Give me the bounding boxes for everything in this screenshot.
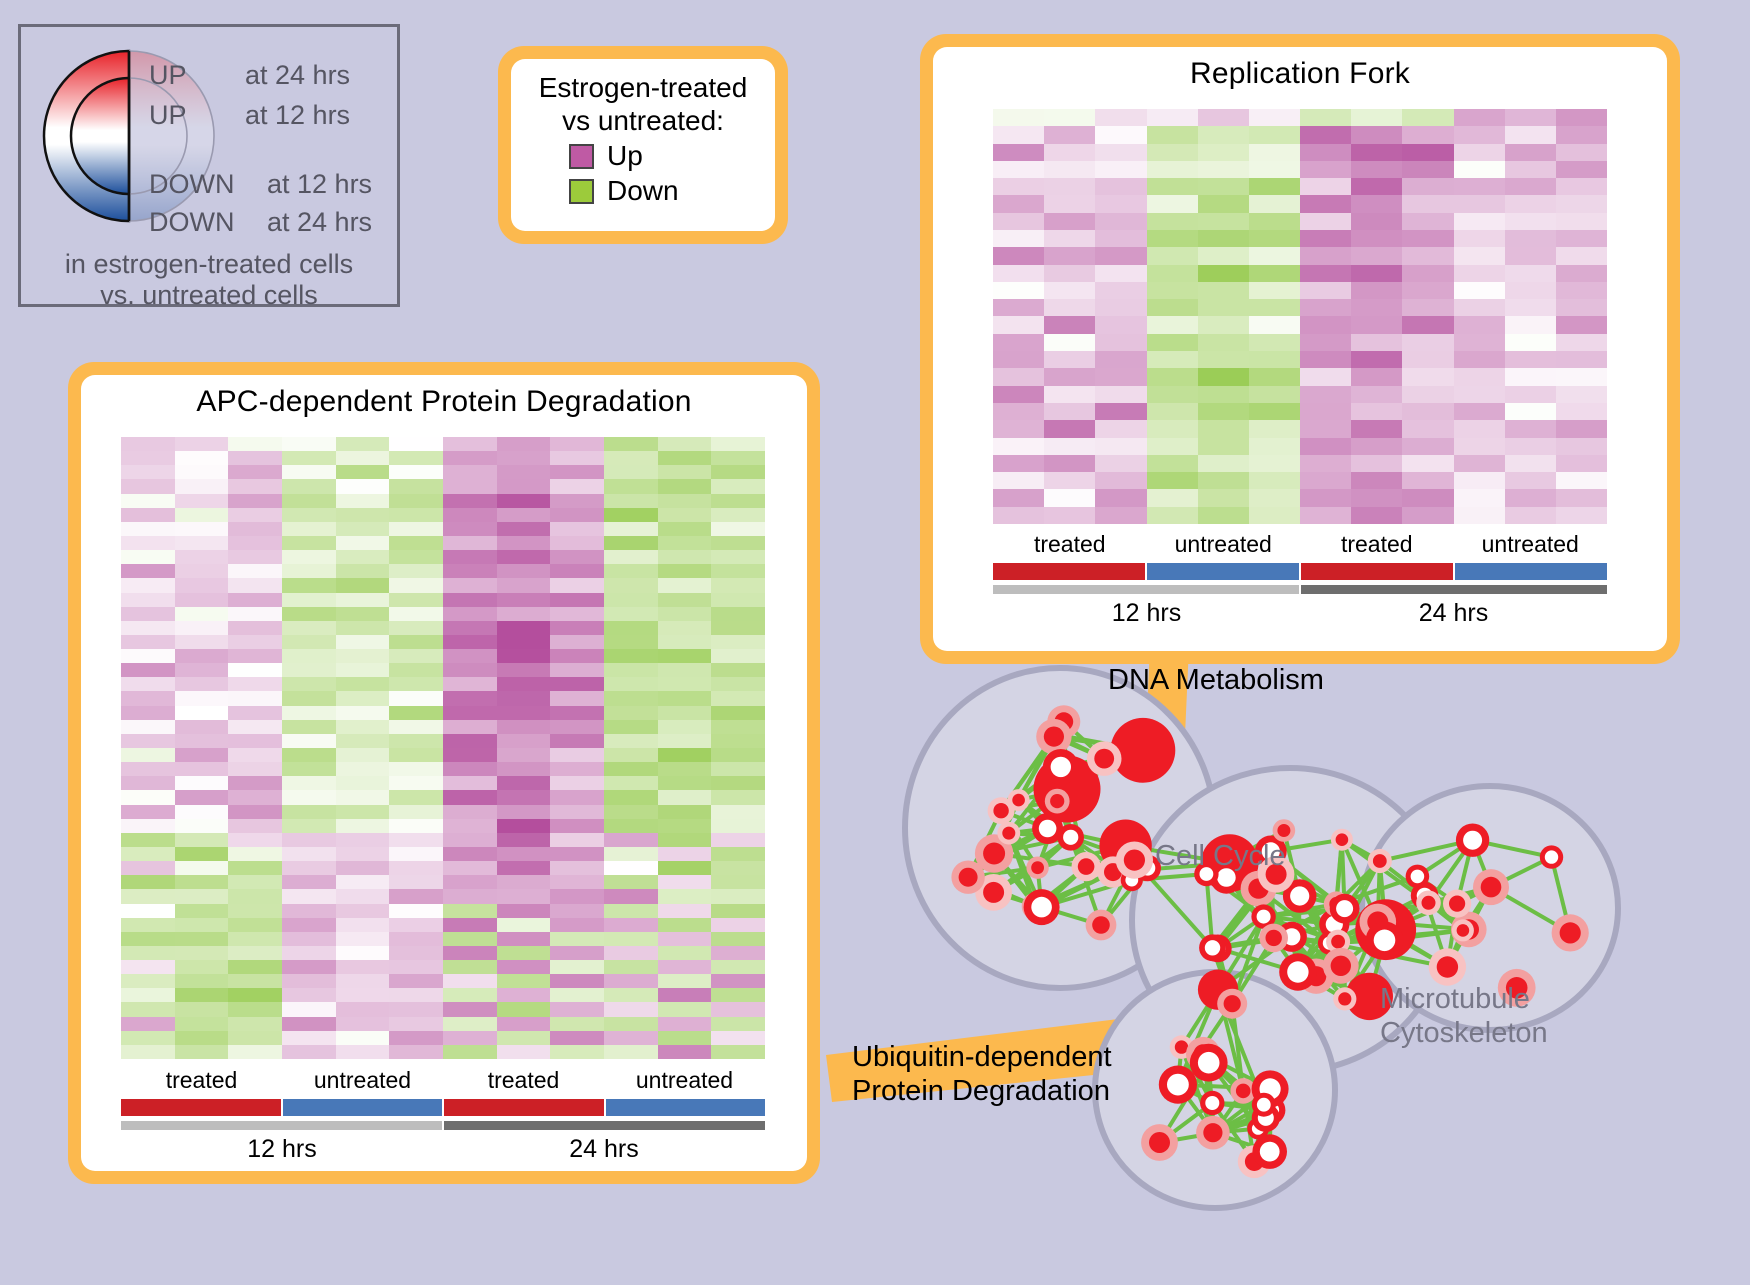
heatmap-cell bbox=[497, 875, 551, 889]
heatmap-cell bbox=[282, 508, 336, 522]
heatmap-cell bbox=[550, 550, 604, 564]
heatmap-cell bbox=[658, 1017, 712, 1031]
heatmap-cell bbox=[658, 918, 712, 932]
heatmap-cell bbox=[1454, 368, 1505, 385]
heatmap-cell bbox=[1402, 109, 1453, 126]
heatmap-cell bbox=[1505, 403, 1556, 420]
heatmap-cell bbox=[1402, 299, 1453, 316]
heatmap-cell bbox=[1402, 455, 1453, 472]
heatmap-cell bbox=[550, 988, 604, 1002]
heatmap-cell bbox=[228, 805, 282, 819]
heatmap-cell bbox=[658, 479, 712, 493]
heatmap-cell bbox=[228, 988, 282, 1002]
heatmap-cell bbox=[443, 706, 497, 720]
network-node[interactable] bbox=[1031, 861, 1044, 874]
heatmap-cell bbox=[1402, 489, 1453, 506]
heatmap-cell bbox=[1095, 386, 1146, 403]
heatmap-cell bbox=[389, 904, 443, 918]
heatmap-cell bbox=[658, 593, 712, 607]
network-node[interactable] bbox=[1331, 935, 1345, 949]
replication-fork-sample-labels: treateduntreatedtreateduntreated bbox=[993, 531, 1607, 558]
heatmap-cell bbox=[443, 479, 497, 493]
network-node[interactable] bbox=[1050, 794, 1064, 808]
network-node[interactable] bbox=[1205, 1096, 1219, 1110]
heatmap-cell bbox=[389, 663, 443, 677]
heatmap-cell bbox=[121, 677, 175, 691]
heatmap-cell bbox=[711, 960, 765, 974]
heatmap-cell bbox=[658, 833, 712, 847]
heatmap-cell bbox=[1556, 178, 1607, 195]
heatmap-cell bbox=[497, 762, 551, 776]
network-node[interactable] bbox=[993, 803, 1008, 818]
heatmap-cell bbox=[228, 1017, 282, 1031]
heatmap-cell bbox=[604, 720, 658, 734]
heatmap-cell bbox=[497, 635, 551, 649]
heatmap-cell bbox=[336, 748, 390, 762]
heatmap-cell bbox=[658, 847, 712, 861]
heatmap-cell bbox=[282, 451, 336, 465]
heatmap-cell bbox=[336, 988, 390, 1002]
heatmap-cell bbox=[282, 946, 336, 960]
heatmap-cell bbox=[282, 776, 336, 790]
heatmap-cell bbox=[1249, 420, 1300, 437]
heatmap-cell bbox=[443, 819, 497, 833]
heatmap-cell bbox=[497, 691, 551, 705]
heatmap-cell bbox=[175, 762, 229, 776]
heatmap-cell bbox=[1300, 144, 1351, 161]
heatmap-cell bbox=[1249, 109, 1300, 126]
heatmap-cell bbox=[282, 918, 336, 932]
network-node[interactable] bbox=[1336, 833, 1349, 846]
heatmap-cell bbox=[1198, 178, 1249, 195]
network-node[interactable] bbox=[1338, 992, 1351, 1005]
heatmap-cell bbox=[604, 762, 658, 776]
heatmap-cell bbox=[389, 734, 443, 748]
heatmap-cell bbox=[389, 1002, 443, 1016]
heatmap-cell bbox=[604, 1017, 658, 1031]
heatmap-cell bbox=[443, 677, 497, 691]
sample-label: untreated bbox=[282, 1067, 443, 1094]
heatmap-cell bbox=[497, 451, 551, 465]
heatmap-cell bbox=[550, 578, 604, 592]
network-node[interactable] bbox=[1224, 995, 1241, 1012]
heatmap-cell bbox=[228, 1045, 282, 1059]
heatmap-cell bbox=[497, 593, 551, 607]
heatmap-cell bbox=[1147, 299, 1198, 316]
network-node[interactable] bbox=[1287, 961, 1308, 982]
heatmap-cell bbox=[604, 974, 658, 988]
network-node[interactable] bbox=[983, 843, 1005, 865]
heatmap-cell bbox=[1351, 420, 1402, 437]
heatmap-cell bbox=[282, 790, 336, 804]
heatmap-cell bbox=[1095, 161, 1146, 178]
heatmap-cell bbox=[711, 762, 765, 776]
heatmap-cell bbox=[443, 946, 497, 960]
heatmap-cell bbox=[711, 522, 765, 536]
network-node[interactable] bbox=[1167, 1074, 1189, 1096]
heatmap-cell bbox=[1249, 247, 1300, 264]
heatmap-cell bbox=[1505, 507, 1556, 524]
heatmap-cell bbox=[336, 904, 390, 918]
heatmap-cell bbox=[550, 805, 604, 819]
heatmap-cell bbox=[993, 161, 1044, 178]
heatmap-cell bbox=[1351, 334, 1402, 351]
heatmap-cell bbox=[389, 578, 443, 592]
heatmap-cell bbox=[228, 437, 282, 451]
heatmap-cell bbox=[711, 508, 765, 522]
heatmap-cell bbox=[175, 1017, 229, 1031]
heatmap-cell bbox=[121, 522, 175, 536]
heatmap-cell bbox=[443, 904, 497, 918]
heatmap-cell bbox=[121, 1031, 175, 1045]
network-node[interactable] bbox=[1374, 930, 1396, 952]
heatmap-cell bbox=[993, 351, 1044, 368]
heatmap-cell bbox=[550, 790, 604, 804]
heatmap-cell bbox=[1249, 386, 1300, 403]
heatmap-cell bbox=[336, 734, 390, 748]
replication-fork-time-labels: 12 hrs24 hrs bbox=[993, 599, 1607, 628]
heatmap-cell bbox=[711, 904, 765, 918]
heatmap-cell bbox=[1249, 368, 1300, 385]
network-node[interactable] bbox=[1111, 718, 1176, 783]
network-node[interactable] bbox=[959, 868, 978, 887]
heatmap-cell bbox=[228, 720, 282, 734]
heatmap-cell bbox=[711, 564, 765, 578]
heatmap-cell bbox=[1249, 316, 1300, 333]
network-node[interactable] bbox=[1236, 1084, 1251, 1099]
heatmap-cell bbox=[550, 889, 604, 903]
network-node[interactable] bbox=[1205, 940, 1220, 955]
heatmap-cell bbox=[497, 1031, 551, 1045]
heatmap-cell bbox=[336, 819, 390, 833]
heatmap-cell bbox=[1044, 386, 1095, 403]
heatmap-cell bbox=[1044, 489, 1095, 506]
network-node[interactable] bbox=[1094, 749, 1114, 769]
heatmap-cell bbox=[711, 918, 765, 932]
heatmap-cell bbox=[1556, 507, 1607, 524]
heatmap-cell bbox=[497, 748, 551, 762]
heatmap-cell bbox=[1505, 282, 1556, 299]
heatmap-cell bbox=[336, 1031, 390, 1045]
heatmap-cell bbox=[1044, 472, 1095, 489]
heatmap-cell bbox=[389, 465, 443, 479]
heatmap-cell bbox=[443, 508, 497, 522]
network-node[interactable] bbox=[1331, 956, 1351, 976]
heatmap-cell bbox=[604, 550, 658, 564]
key-up-24-time: at 24 hrs bbox=[245, 60, 350, 91]
heatmap-cell bbox=[389, 1017, 443, 1031]
apc-time-bar bbox=[121, 1121, 765, 1130]
heatmap-cell bbox=[711, 635, 765, 649]
treatment-bar-segment bbox=[283, 1099, 443, 1116]
heatmap-cell bbox=[604, 649, 658, 663]
heatmap-cell bbox=[336, 847, 390, 861]
heatmap-cell bbox=[1249, 438, 1300, 455]
network-node[interactable] bbox=[1560, 922, 1581, 943]
heatmap-cell bbox=[1505, 455, 1556, 472]
heatmap-cell bbox=[497, 494, 551, 508]
key-up-12-time: at 12 hrs bbox=[245, 100, 350, 131]
heatmap-cell bbox=[121, 875, 175, 889]
network-node[interactable] bbox=[1260, 1142, 1280, 1162]
cluster-label-microtubule: Microtubule Cytoskeleton bbox=[1380, 982, 1548, 1050]
heatmap-cell bbox=[550, 861, 604, 875]
heatmap-cell bbox=[1351, 109, 1402, 126]
heatmap-cell bbox=[993, 126, 1044, 143]
network-node[interactable] bbox=[1078, 858, 1095, 875]
heatmap-cell bbox=[228, 663, 282, 677]
network-node[interactable] bbox=[1481, 877, 1502, 898]
network-node[interactable] bbox=[1422, 896, 1436, 910]
heatmap-cell bbox=[658, 805, 712, 819]
sample-label: treated bbox=[121, 1067, 282, 1094]
heatmap-cell bbox=[1351, 351, 1402, 368]
heatmap-cell bbox=[121, 988, 175, 1002]
heatmap-cell bbox=[1402, 386, 1453, 403]
network-node[interactable] bbox=[1063, 830, 1078, 845]
network-node[interactable] bbox=[1449, 896, 1465, 912]
network-node[interactable] bbox=[1266, 930, 1282, 946]
heatmap-cell bbox=[1300, 299, 1351, 316]
heatmap-cell bbox=[604, 904, 658, 918]
heatmap-cell bbox=[1556, 472, 1607, 489]
heatmap-cell bbox=[336, 508, 390, 522]
heatmap-cell bbox=[228, 776, 282, 790]
heatmap-cell bbox=[1556, 230, 1607, 247]
heatmap-cell bbox=[175, 621, 229, 635]
heatmap-cell bbox=[993, 420, 1044, 437]
heatmap-cell bbox=[228, 790, 282, 804]
heatmap-cell bbox=[282, 437, 336, 451]
heatmap-cell bbox=[1505, 334, 1556, 351]
heatmap-cell bbox=[497, 861, 551, 875]
replication-fork-time-bar bbox=[993, 585, 1607, 594]
heatmap-cell bbox=[121, 974, 175, 988]
heatmap-cell bbox=[443, 776, 497, 790]
heatmap-cell bbox=[389, 593, 443, 607]
heatmap-cell bbox=[389, 508, 443, 522]
heatmap-cell bbox=[121, 960, 175, 974]
heatmap-cell bbox=[1095, 368, 1146, 385]
heatmap-cell bbox=[497, 479, 551, 493]
network-node[interactable] bbox=[1411, 870, 1425, 884]
network-node[interactable] bbox=[1002, 827, 1015, 840]
network-node[interactable] bbox=[1031, 897, 1052, 918]
heatmap-cell bbox=[1454, 126, 1505, 143]
network-node[interactable] bbox=[1463, 831, 1482, 850]
sample-label: untreated bbox=[1147, 531, 1301, 558]
heatmap-cell bbox=[1402, 507, 1453, 524]
heatmap-cell bbox=[604, 536, 658, 550]
heatmap-cell bbox=[604, 465, 658, 479]
heatmap-cell bbox=[993, 247, 1044, 264]
key-footer-line2: vs. untreated cells bbox=[21, 280, 397, 311]
heatmap-cell bbox=[228, 621, 282, 635]
heatmap-cell bbox=[1300, 403, 1351, 420]
heatmap-cell bbox=[1147, 334, 1198, 351]
heatmap-cell bbox=[604, 875, 658, 889]
heatmap-cell bbox=[1147, 403, 1198, 420]
heatmap-cell bbox=[282, 960, 336, 974]
heatmap-cell bbox=[282, 578, 336, 592]
heatmap-cell bbox=[1249, 455, 1300, 472]
heatmap-cell bbox=[1249, 144, 1300, 161]
heatmap-cell bbox=[1300, 368, 1351, 385]
heatmap-cell bbox=[282, 621, 336, 635]
replication-fork-treatment-bar bbox=[993, 563, 1607, 580]
heatmap-cell bbox=[389, 649, 443, 663]
heatmap-cell bbox=[1300, 109, 1351, 126]
heatmap-cell bbox=[1147, 247, 1198, 264]
heatmap-cell bbox=[550, 974, 604, 988]
heatmap-cell bbox=[1351, 144, 1402, 161]
network-node[interactable] bbox=[1124, 850, 1145, 871]
time-label: 24 hrs bbox=[443, 1135, 765, 1164]
network-node[interactable] bbox=[1457, 924, 1470, 937]
heatmap-cell bbox=[1147, 316, 1198, 333]
heatmap-cell bbox=[1249, 282, 1300, 299]
heatmap-cell bbox=[1505, 213, 1556, 230]
heatmap-cell bbox=[1505, 109, 1556, 126]
treatment-bar-segment bbox=[993, 563, 1145, 580]
network-node[interactable] bbox=[1051, 757, 1071, 777]
heatmap-cell bbox=[658, 437, 712, 451]
heatmap-cell bbox=[711, 578, 765, 592]
heatmap-cell bbox=[1505, 247, 1556, 264]
heatmap-cell bbox=[1351, 282, 1402, 299]
network-node[interactable] bbox=[1437, 956, 1458, 977]
heatmap-cell bbox=[1300, 178, 1351, 195]
heatmap-cell bbox=[658, 1031, 712, 1045]
color-key-box: UP at 24 hrs UP at 12 hrs DOWN at 12 hrs… bbox=[18, 24, 400, 307]
heatmap-cell bbox=[658, 875, 712, 889]
heatmap-cell bbox=[1095, 420, 1146, 437]
heatmap-cell bbox=[550, 691, 604, 705]
network-node[interactable] bbox=[1203, 1123, 1222, 1142]
heatmap-cell bbox=[228, 819, 282, 833]
network-node[interactable] bbox=[1257, 910, 1271, 924]
network-node[interactable] bbox=[1277, 824, 1290, 837]
heatmap-cell bbox=[282, 748, 336, 762]
network-node[interactable] bbox=[1545, 850, 1558, 863]
heatmap-cell bbox=[550, 1031, 604, 1045]
heatmap-cell bbox=[1454, 144, 1505, 161]
heatmap-cell bbox=[389, 437, 443, 451]
network-node[interactable] bbox=[1336, 900, 1353, 917]
legend-item-up: Up bbox=[569, 140, 775, 172]
heatmap-cell bbox=[1454, 195, 1505, 212]
heatmap-cell bbox=[497, 974, 551, 988]
heatmap-cell bbox=[121, 621, 175, 635]
heatmap-cell bbox=[228, 536, 282, 550]
heatmap-cell bbox=[550, 960, 604, 974]
heatmap-cell bbox=[228, 974, 282, 988]
heatmap-cell bbox=[389, 875, 443, 889]
heatmap-cell bbox=[336, 437, 390, 451]
heatmap-cell bbox=[175, 847, 229, 861]
network-node[interactable] bbox=[1149, 1132, 1170, 1153]
network-node[interactable] bbox=[1039, 820, 1057, 838]
heatmap-cell bbox=[1147, 126, 1198, 143]
heatmap-cell bbox=[497, 988, 551, 1002]
network-node[interactable] bbox=[1044, 727, 1064, 747]
heatmap-cell bbox=[282, 720, 336, 734]
heatmap-cell bbox=[282, 932, 336, 946]
heatmap-cell bbox=[1351, 507, 1402, 524]
treatment-bar-segment bbox=[121, 1099, 281, 1116]
network-node[interactable] bbox=[1257, 1098, 1271, 1112]
heatmap-cell bbox=[1402, 282, 1453, 299]
heatmap-cell bbox=[228, 494, 282, 508]
heatmap-cell bbox=[711, 649, 765, 663]
heatmap-cell bbox=[711, 847, 765, 861]
heatmap-cell bbox=[993, 489, 1044, 506]
network-node[interactable] bbox=[1290, 886, 1309, 905]
heatmap-cell bbox=[497, 578, 551, 592]
heatmap-cell bbox=[1044, 282, 1095, 299]
heatmap-cell bbox=[658, 607, 712, 621]
heatmap-cell bbox=[1044, 438, 1095, 455]
heatmap-cell bbox=[1351, 247, 1402, 264]
network-node[interactable] bbox=[1373, 854, 1387, 868]
heatmap-cell bbox=[1351, 386, 1402, 403]
heatmap-cell bbox=[336, 451, 390, 465]
heatmap-cell bbox=[711, 720, 765, 734]
time-bar-segment bbox=[1301, 585, 1607, 594]
heatmap-cell bbox=[228, 479, 282, 493]
heatmap-cell bbox=[228, 522, 282, 536]
heatmap-cell bbox=[1044, 334, 1095, 351]
heatmap-cell bbox=[658, 663, 712, 677]
heatmap-cell bbox=[282, 649, 336, 663]
heatmap-cell bbox=[1095, 230, 1146, 247]
network-node[interactable] bbox=[1092, 916, 1110, 934]
heatmap-cell bbox=[1351, 178, 1402, 195]
heatmap-cell bbox=[443, 748, 497, 762]
heatmap-cell bbox=[175, 465, 229, 479]
heatmap-cell bbox=[604, 833, 658, 847]
heatmap-cell bbox=[658, 776, 712, 790]
treatment-bar-segment bbox=[444, 1099, 604, 1116]
heatmap-cell bbox=[175, 649, 229, 663]
heatmap-cell bbox=[497, 663, 551, 677]
heatmap-cell bbox=[175, 578, 229, 592]
heatmap-cell bbox=[282, 691, 336, 705]
heatmap-cell bbox=[993, 386, 1044, 403]
heatmap-cell bbox=[604, 706, 658, 720]
heatmap-cell bbox=[389, 706, 443, 720]
key-down-24-time: at 24 hrs bbox=[267, 207, 372, 238]
network-node[interactable] bbox=[983, 882, 1004, 903]
network-node[interactable] bbox=[1012, 794, 1025, 807]
heatmap-cell bbox=[175, 536, 229, 550]
heatmap-cell bbox=[443, 762, 497, 776]
heatmap-cell bbox=[336, 875, 390, 889]
heatmap-cell bbox=[282, 734, 336, 748]
heatmap-cell bbox=[282, 889, 336, 903]
heatmap-cell bbox=[1556, 144, 1607, 161]
heatmap-cell bbox=[228, 960, 282, 974]
network-node[interactable] bbox=[1198, 1052, 1220, 1074]
heatmap-cell bbox=[1249, 213, 1300, 230]
heatmap-cell bbox=[1505, 161, 1556, 178]
heatmap-cell bbox=[282, 536, 336, 550]
key-down-24-label: DOWN bbox=[149, 207, 234, 238]
heatmap-cell bbox=[389, 819, 443, 833]
heatmap-cell bbox=[443, 918, 497, 932]
heatmap-cell bbox=[658, 536, 712, 550]
heatmap-cell bbox=[121, 508, 175, 522]
